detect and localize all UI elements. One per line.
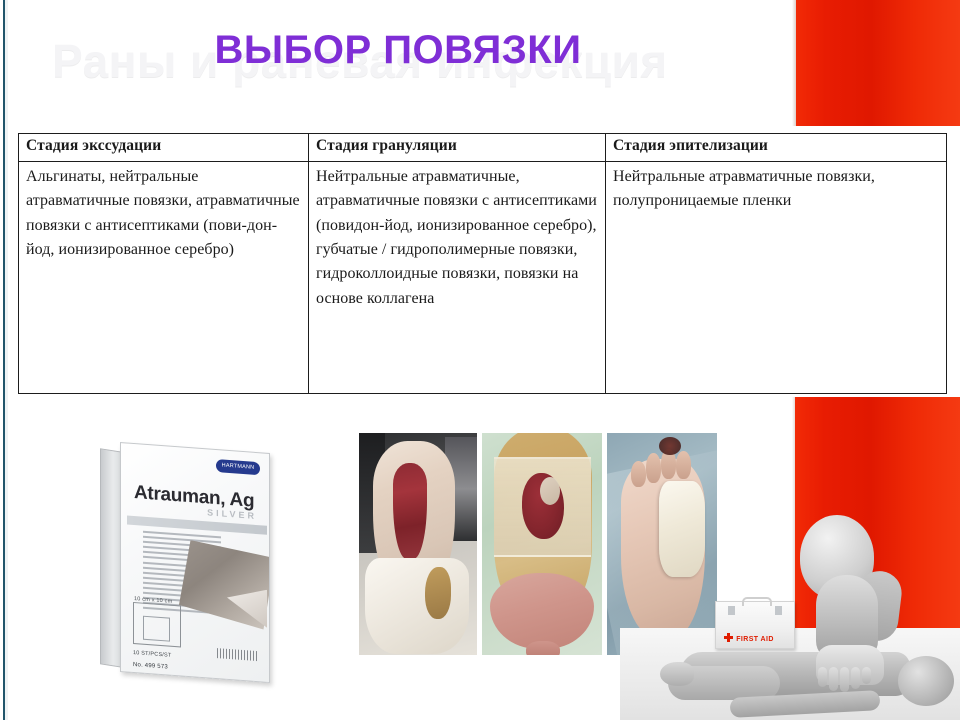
table-cell-granulation: Нейтральные атравматичные, атравматичные… [309, 162, 606, 394]
presentation-slide: Раны и раневая инфекция ВЫБОР ПОВЯЗКИ Ст… [0, 0, 960, 720]
first-aid-kit: FIRST AID [715, 601, 795, 649]
dressing-selection-table: Стадия экссудации Стадия грануляции Стад… [18, 133, 947, 394]
table-header-granulation: Стадия грануляции [309, 134, 606, 162]
photo-exudate-stain [425, 567, 451, 619]
photo-dressing [365, 558, 469, 654]
table-row: Альгинаты, нейтральные атравматичные пов… [19, 162, 947, 394]
package-size-diagram [133, 602, 181, 648]
atrauman-ag-package-image: HARTMANN Atrauman, Ag SILVER 10 cm x 10 … [100, 438, 275, 678]
package-reference-number: No. 499 573 [133, 662, 168, 671]
first-aid-kit-label: FIRST AID [716, 636, 794, 643]
cpr-patient-head [898, 656, 954, 706]
first-aid-kit-latch-right [775, 606, 782, 615]
photo-toes [526, 641, 560, 656]
photo-wound-bed [393, 463, 427, 559]
red-accent-panel-top [796, 0, 960, 126]
photo-wound-slough [540, 477, 560, 505]
dressing-selection-table-wrapper: Стадия экссудации Стадия грануляции Стад… [18, 133, 946, 395]
first-aid-kit-handle [742, 597, 772, 606]
first-aid-kit-latch-left [728, 606, 735, 615]
package-brand-name: Atrauman, Ag [134, 482, 254, 513]
page-title: ВЫБОР ПОВЯЗКИ [0, 28, 796, 73]
package-front-panel: HARTMANN Atrauman, Ag SILVER 10 cm x 10 … [120, 442, 270, 683]
package-count-label: 10 ST/PCS/ST [133, 650, 171, 659]
package-size-diagram-inner [143, 616, 170, 642]
table-header-epithelization: Стадия эпителизации [606, 134, 947, 162]
clinical-photo-exudation [358, 432, 478, 656]
table-header-exudation: Стадия экссудации [19, 134, 309, 162]
cpr-patient-feet [660, 662, 694, 686]
hartmann-logo: HARTMANN [216, 459, 260, 475]
title-zone: Раны и раневая инфекция ВЫБОР ПОВЯЗКИ [0, 28, 796, 108]
package-barcode [217, 648, 259, 661]
table-cell-epithelization: Нейтральные атравматичные повязки, полуп… [606, 162, 947, 394]
slide-left-border-soft [5, 0, 8, 720]
table-cell-exudation: Альгинаты, нейтральные атравматичные пов… [19, 162, 309, 394]
hartmann-logo-label: HARTMANN [216, 459, 260, 475]
table-header-row: Стадия экссудации Стадия грануляции Стад… [19, 134, 947, 162]
photo-heel [490, 573, 594, 649]
cpr-rescuer-fingers [818, 667, 878, 693]
clinical-photo-granulation [481, 432, 603, 656]
photo-necrotic-toe [659, 437, 681, 455]
cpr-illustration: FIRST AID [620, 505, 960, 720]
